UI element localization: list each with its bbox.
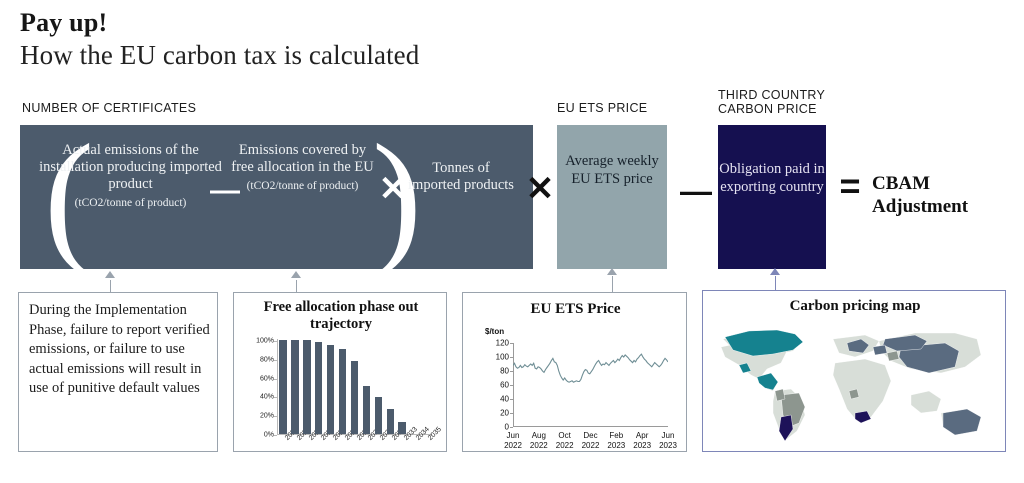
world-map <box>715 317 995 445</box>
bar-chart-bar <box>291 340 298 434</box>
bar-chart-panel: Free allocation phase out trajectory 0%2… <box>233 292 447 452</box>
bar-chart-y-axis <box>277 339 278 435</box>
map-region-africa-gray <box>849 389 859 399</box>
line-chart-plot: 020406080100120Jun2022Aug2022Oct2022Dec2… <box>513 343 668 427</box>
bar-chart-y-tick <box>274 379 277 380</box>
map-region-southeast-asia <box>911 391 941 413</box>
bar-chart-bar <box>303 340 310 434</box>
bar-chart-bar <box>387 409 394 434</box>
cbam-adjustment-result: CBAM Adjustment <box>872 172 1022 218</box>
line-chart-y-tick-label: 20 <box>500 409 509 418</box>
bar-chart-bar <box>363 386 370 434</box>
line-chart-y-tick <box>510 427 513 428</box>
world-map-svg <box>715 317 995 445</box>
bar-chart-bar <box>375 397 382 434</box>
line-chart-y-tick-label: 60 <box>500 381 509 390</box>
bar-chart-y-tick <box>274 416 277 417</box>
map-region-australia <box>943 409 981 435</box>
note-panel-text: During the Implementation Phase, failure… <box>29 301 215 399</box>
caption-third-country-carbon-price: THIRD COUNTRY CARBON PRICE <box>718 88 825 116</box>
note-panel: During the Implementation Phase, failure… <box>18 292 218 452</box>
bar-chart-y-tick-label: 100% <box>256 338 274 345</box>
bar-chart-y-tick-label: 80% <box>260 356 274 363</box>
map-region-turkey <box>873 345 887 355</box>
term-free-allocation-text: Emissions covered by free allocation in … <box>231 142 374 175</box>
bar-chart-bar <box>279 340 286 434</box>
map-region-colombia <box>775 389 785 401</box>
line-chart-y-tick-label: 100 <box>496 353 509 362</box>
term-actual-emissions-text: Actual emissions of the installation pro… <box>39 142 222 192</box>
term-free-allocation-unit: (tCO2/tonne of product) <box>230 178 375 195</box>
third-country-carbon-price-box <box>718 125 826 269</box>
line-chart-units-label: $/ton <box>485 327 504 336</box>
connector-line-ets <box>612 276 613 293</box>
caption-eu-ets-price: EU ETS PRICE <box>557 101 647 115</box>
connector-arrow-bar <box>291 271 301 278</box>
bar-chart-y-tick-label: 40% <box>260 394 274 401</box>
eu-ets-price-box <box>557 125 667 269</box>
operator-minus-2: — <box>676 176 716 206</box>
bar-chart-bar <box>398 422 405 434</box>
connector-arrow-map <box>770 268 780 275</box>
term-free-allocation: Emissions covered by free allocation in … <box>230 142 375 195</box>
bar-chart-bar <box>339 349 346 434</box>
operator-equals: = <box>830 168 870 204</box>
line-chart-y-tick-label: 80 <box>500 367 509 376</box>
bar-chart-bar <box>351 361 358 434</box>
line-chart-x-tick-label: Jun2023 <box>653 431 683 451</box>
map-title: Carbon pricing map <box>703 297 1007 315</box>
bar-chart-y-tick-label: 20% <box>260 413 274 420</box>
line-chart-panel: EU ETS Price $/ton 020406080100120Jun202… <box>462 292 687 452</box>
infographic-canvas: Pay up! How the EU carbon tax is calcula… <box>0 0 1024 483</box>
bar-chart-title: Free allocation phase out trajectory <box>234 299 448 333</box>
bar-chart-y-tick <box>274 435 277 436</box>
caption-number-of-certificates: NUMBER OF CERTIFICATES <box>22 101 196 115</box>
connector-line-map <box>775 276 776 291</box>
page-title: Pay up! <box>20 8 107 38</box>
term-actual-emissions-unit: (tCO2/tonne of product) <box>38 195 223 212</box>
operator-times-2: ✕ <box>523 172 557 206</box>
term-average-weekly-price: Average weekly EU ETS price <box>557 152 667 188</box>
bar-chart-plot: 0%20%40%60%80%100%2023202420252026202720… <box>277 339 432 435</box>
bar-chart-y-tick-label: 60% <box>260 375 274 382</box>
term-tonnes-imported: Tonnes of imported products <box>405 160 517 194</box>
line-chart-title: EU ETS Price <box>463 300 688 318</box>
bar-chart-y-tick <box>274 360 277 361</box>
line-chart-y-tick-label: 120 <box>496 339 509 348</box>
map-panel: Carbon pricing map <box>702 290 1006 452</box>
term-actual-emissions: Actual emissions of the installation pro… <box>38 142 223 212</box>
bar-chart-bar <box>327 345 334 434</box>
bar-chart-y-tick <box>274 397 277 398</box>
line-chart-series <box>513 343 668 427</box>
connector-arrow-note <box>105 271 115 278</box>
map-region-argentina <box>779 415 793 441</box>
page-subtitle: How the EU carbon tax is calculated <box>20 40 419 71</box>
bar-chart-bar <box>315 342 322 434</box>
term-obligation-paid: Obligation paid in exporting country <box>718 160 826 196</box>
line-chart-y-tick-label: 40 <box>500 395 509 404</box>
connector-arrow-ets <box>607 268 617 275</box>
map-region-central-asia-gray <box>887 351 899 361</box>
bar-chart-y-tick <box>274 341 277 342</box>
bar-chart-y-tick-label: 0% <box>264 432 274 439</box>
